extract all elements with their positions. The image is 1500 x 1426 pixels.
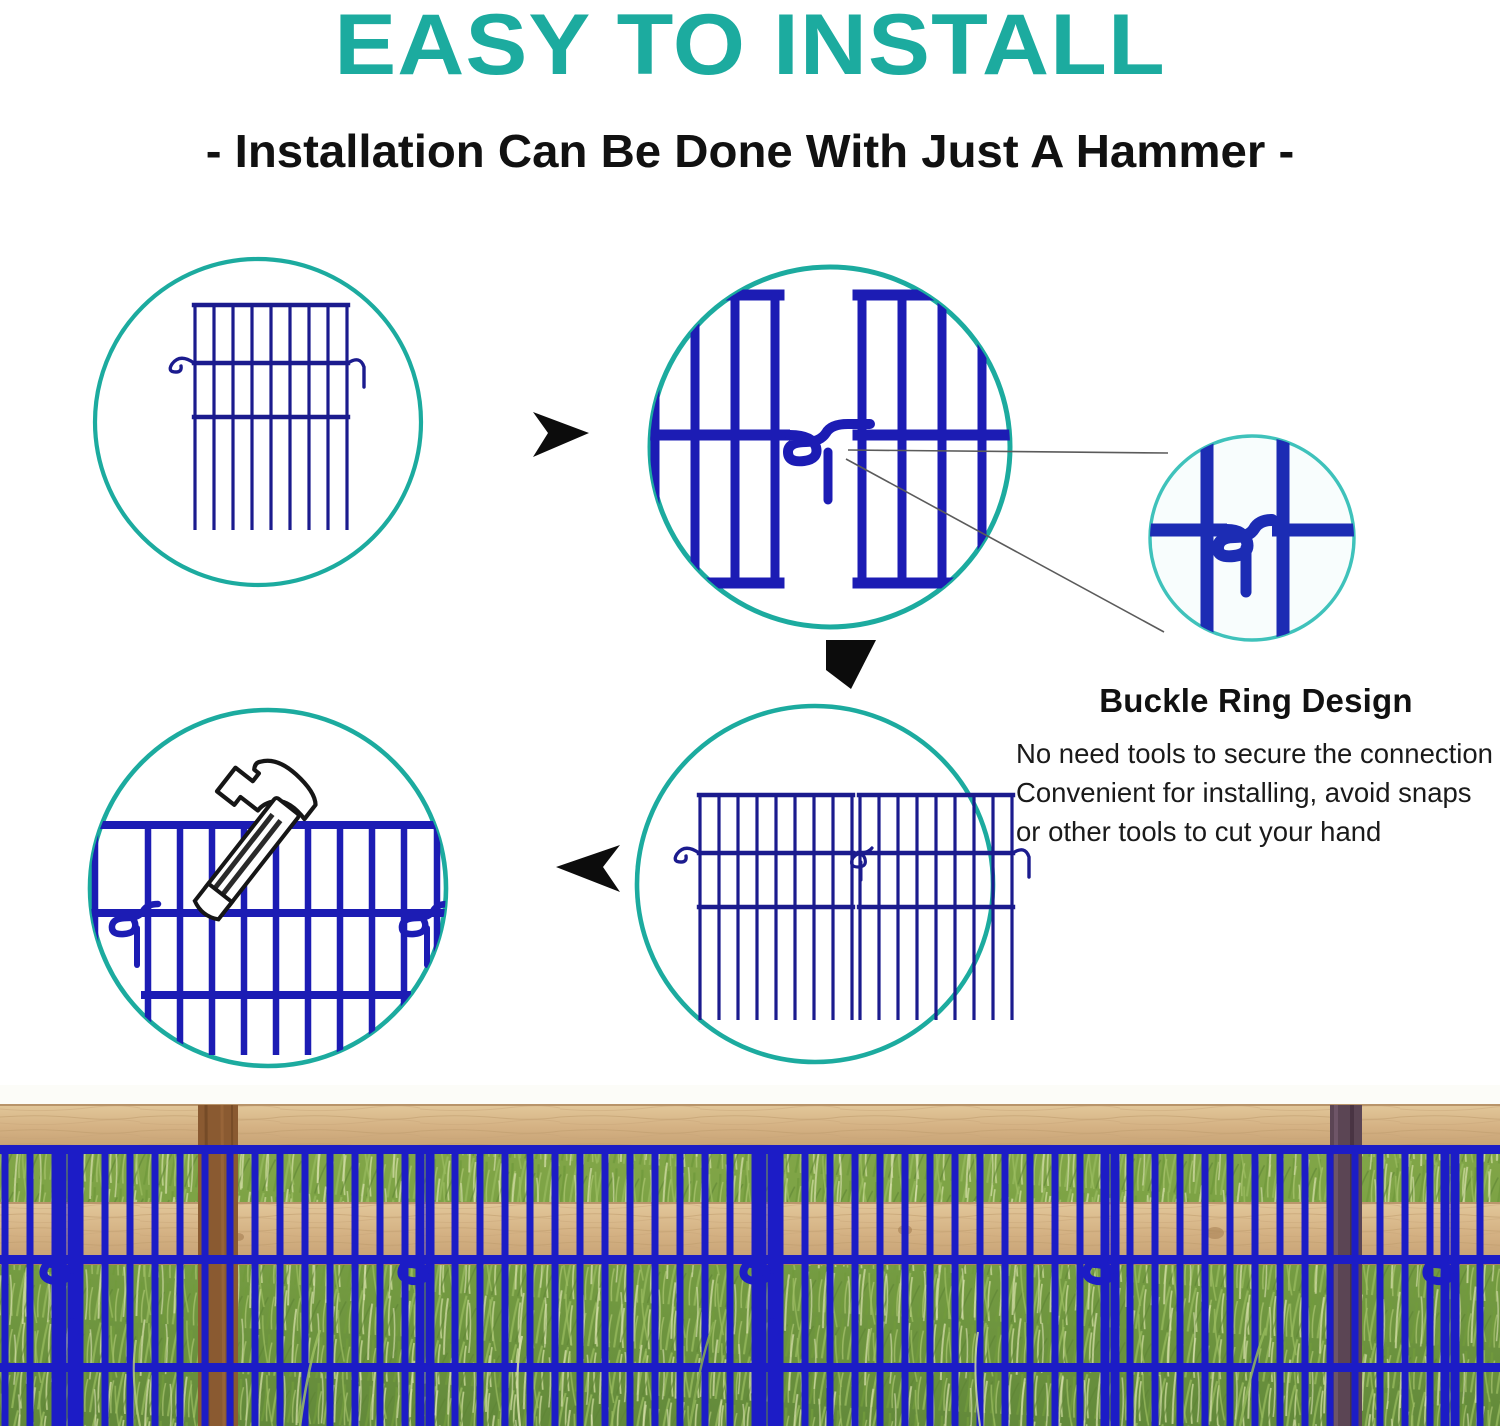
step-1-circle	[95, 259, 421, 585]
page-title: EASY TO INSTALL	[0, 0, 1500, 95]
buckle-ring-magnifier	[1148, 428, 1356, 648]
buckle-desc-line-3: or other tools to cut your hand	[1016, 812, 1496, 851]
installation-steps-diagram	[0, 200, 1500, 1085]
buckle-desc-line-2: Convenient for installing, avoid snaps	[1016, 773, 1496, 812]
sky	[0, 1085, 1500, 1105]
step-4-circle	[40, 710, 470, 1066]
buckle-ring-text-block: Buckle Ring Design No need tools to secu…	[1016, 682, 1496, 851]
step-3-circle	[637, 706, 1029, 1062]
arrow-step2-to-step3	[826, 640, 876, 689]
arrow-step1-to-step2	[533, 412, 589, 457]
arrow-step3-to-step4	[556, 845, 620, 892]
buckle-desc-line-1: No need tools to secure the connection	[1016, 734, 1496, 773]
step-2-circle	[650, 267, 1168, 632]
buckle-ring-heading: Buckle Ring Design	[1016, 682, 1496, 720]
page-subtitle: - Installation Can Be Done With Just A H…	[0, 124, 1500, 178]
product-photo-installed-fence	[0, 1085, 1500, 1426]
